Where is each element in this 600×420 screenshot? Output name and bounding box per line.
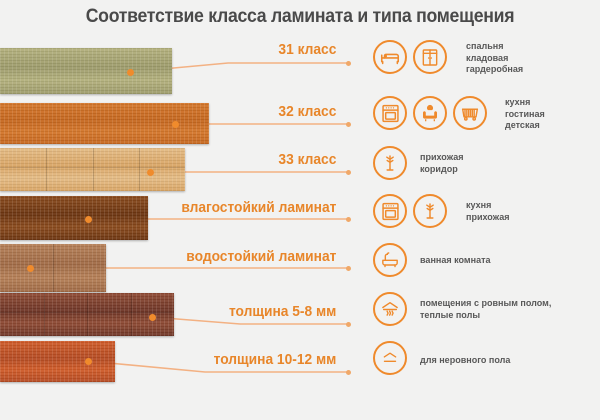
row-label-6: толщина 5-8 мм: [9, 304, 337, 320]
plank-anchor-dot: [147, 169, 154, 176]
row-label-2: 32 класс: [9, 104, 337, 120]
stove-icon: [373, 194, 407, 228]
plank-anchor-dot: [27, 265, 34, 272]
stove-icon: [373, 96, 407, 130]
label-anchor-dot: [346, 266, 351, 271]
label-anchor-dot: [346, 322, 351, 327]
coat-rack-icon: [373, 146, 407, 180]
bathtub-icon: [373, 243, 407, 277]
row-icons-2: [373, 96, 493, 130]
label-anchor-dot: [346, 170, 351, 175]
wardrobe-icon: [413, 40, 447, 74]
label-anchor-dot: [346, 61, 351, 66]
uneven-floor-icon: [373, 341, 407, 375]
infographic-root: Соответствие класса ламината и типа поме…: [0, 0, 600, 420]
room-types-3: прихожая коридор: [420, 152, 464, 175]
row-icons-1: [373, 40, 453, 74]
row-icons-3: [373, 146, 413, 180]
room-types-4: кухня прихожая: [466, 200, 510, 223]
plank-anchor-dot: [127, 69, 134, 76]
coat-rack-icon: [413, 194, 447, 228]
bed-icon: [373, 40, 407, 74]
row-icons-7: [373, 341, 413, 375]
room-types-1: спальня кладовая гардеробная: [466, 41, 523, 76]
room-types-6: помещения с ровным полом, теплые полы: [420, 298, 551, 321]
row-label-3: 33 класс: [9, 152, 337, 168]
room-types-2: кухня гостиная детская: [505, 97, 545, 132]
label-anchor-dot: [346, 122, 351, 127]
crib-icon: [453, 96, 487, 130]
row-label-1: 31 класс: [9, 42, 337, 58]
row-label-5: водостойкий ламинат: [9, 249, 337, 265]
room-types-7: для неровного пола: [420, 355, 510, 367]
label-anchor-dot: [346, 370, 351, 375]
row-icons-5: [373, 243, 413, 277]
plank-anchor-dot: [85, 216, 92, 223]
armchair-icon: [413, 96, 447, 130]
warm-floor-icon: [373, 292, 407, 326]
page-title: Соответствие класса ламината и типа поме…: [21, 6, 579, 28]
label-anchor-dot: [346, 217, 351, 222]
row-icons-4: [373, 194, 453, 228]
room-types-5: ванная комната: [420, 255, 491, 267]
row-icons-6: [373, 292, 413, 326]
plank-anchor-dot: [172, 121, 179, 128]
row-label-4: влагостойкий ламинат: [9, 200, 337, 216]
row-label-7: толщина 10-12 мм: [9, 352, 337, 368]
